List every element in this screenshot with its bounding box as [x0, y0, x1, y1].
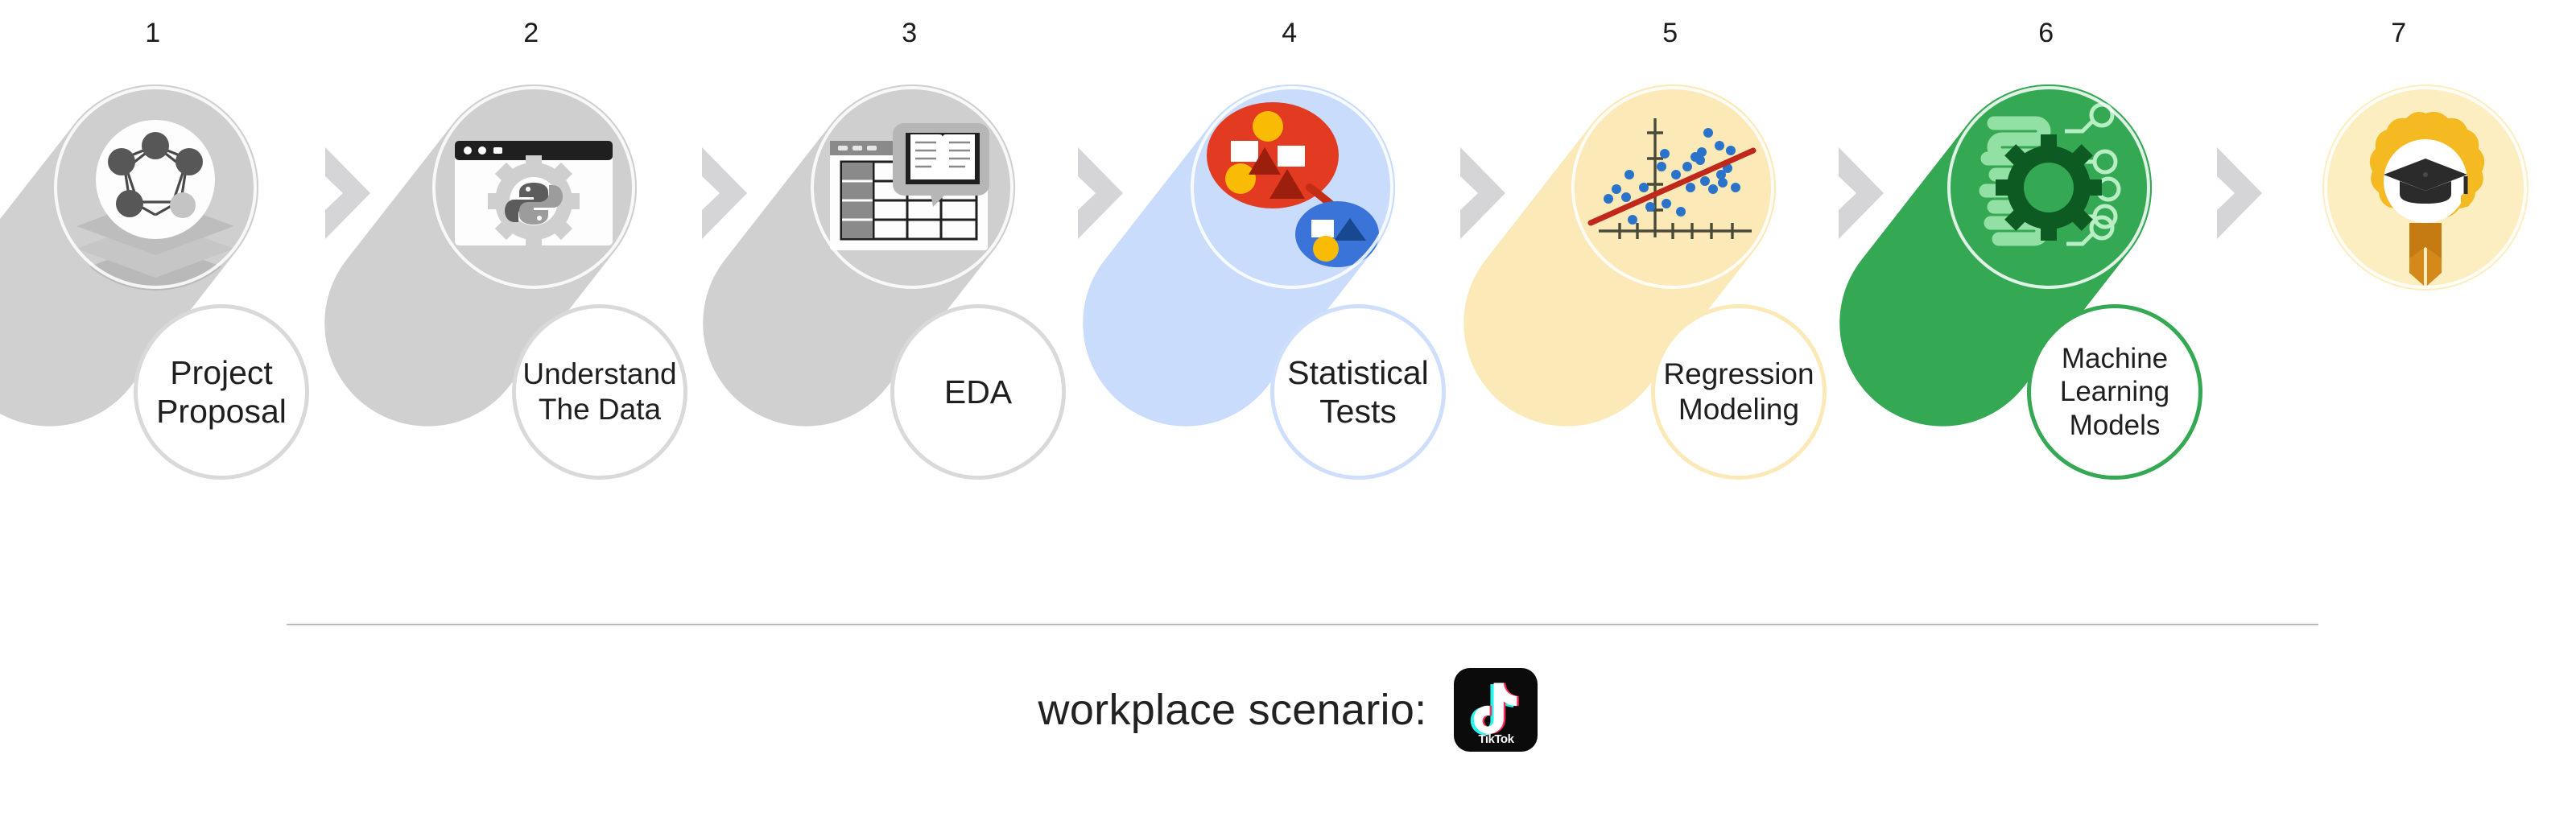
- pipeline-step-3[interactable]: 3: [733, 0, 1087, 563]
- pipeline-step-6[interactable]: 6: [1869, 0, 2223, 563]
- step-label-3: EDA: [890, 304, 1066, 480]
- step-label-5-line1: Regression: [1663, 357, 1814, 390]
- section-divider: [287, 624, 2318, 625]
- ai-brain-circuit-gear-icon: [1946, 85, 2152, 291]
- pipeline-step-1[interactable]: 1: [0, 0, 330, 563]
- step-label-5: Regression Modeling: [1651, 304, 1827, 480]
- pipeline-step-7[interactable]: 7: [2246, 0, 2576, 563]
- workplace-scenario-label: workplace scenario:: [1038, 685, 1427, 735]
- step-number-6: 6: [1869, 18, 2223, 49]
- step-label-2-line2: The Data: [539, 393, 661, 426]
- step-label-1: Project Proposal: [134, 304, 309, 480]
- step-label-4-line2: Tests: [1319, 393, 1397, 430]
- spreadsheet-table-book-icon: [809, 85, 1015, 291]
- browser-window-gear-python-icon: [431, 85, 637, 291]
- step-number-2: 2: [354, 18, 708, 49]
- step-number-4: 4: [1113, 18, 1467, 49]
- network-graph-layers-icon: [52, 85, 258, 291]
- step-label-4: Statistical Tests: [1270, 304, 1446, 480]
- step-number-1: 1: [0, 18, 330, 49]
- tiktok-logo-icon[interactable]: TikTok: [1454, 668, 1538, 752]
- step-label-6-line2: Learning: [2060, 376, 2169, 407]
- step-label-6-line3: Models: [2070, 410, 2161, 441]
- infographic-root: 1: [0, 0, 2576, 837]
- step-label-1-line1: Project: [170, 354, 273, 391]
- step-label-6: Machine Learning Models: [2027, 304, 2202, 480]
- step-label-3-line1: EDA: [944, 373, 1012, 411]
- step-number-5: 5: [1493, 18, 1847, 49]
- tiktok-wordmark: TikTok: [1454, 732, 1538, 746]
- footer-row: workplace scenario: TikTok: [0, 668, 2576, 752]
- graduation-cap-award-badge-icon: [2322, 85, 2529, 291]
- pipeline-step-5[interactable]: 5: [1493, 0, 1847, 563]
- step-label-1-line2: Proposal: [156, 393, 287, 430]
- step-label-2-line1: Understand: [522, 357, 676, 390]
- pipeline-step-4[interactable]: 4: [1113, 0, 1467, 563]
- pipeline-container: 1: [0, 0, 2576, 563]
- step-label-6-line1: Machine: [2062, 343, 2168, 374]
- scatter-plot-regression-line-icon: [1570, 85, 1776, 291]
- pipeline-step-2[interactable]: 2: [354, 0, 708, 563]
- step-label-4-line1: Statistical: [1287, 354, 1428, 391]
- step-label-5-line2: Modeling: [1678, 393, 1799, 426]
- step-number-3: 3: [733, 18, 1087, 49]
- population-sample-shapes-icon: [1189, 85, 1395, 291]
- step-label-2: Understand The Data: [512, 304, 687, 480]
- step-number-7: 7: [2296, 18, 2502, 49]
